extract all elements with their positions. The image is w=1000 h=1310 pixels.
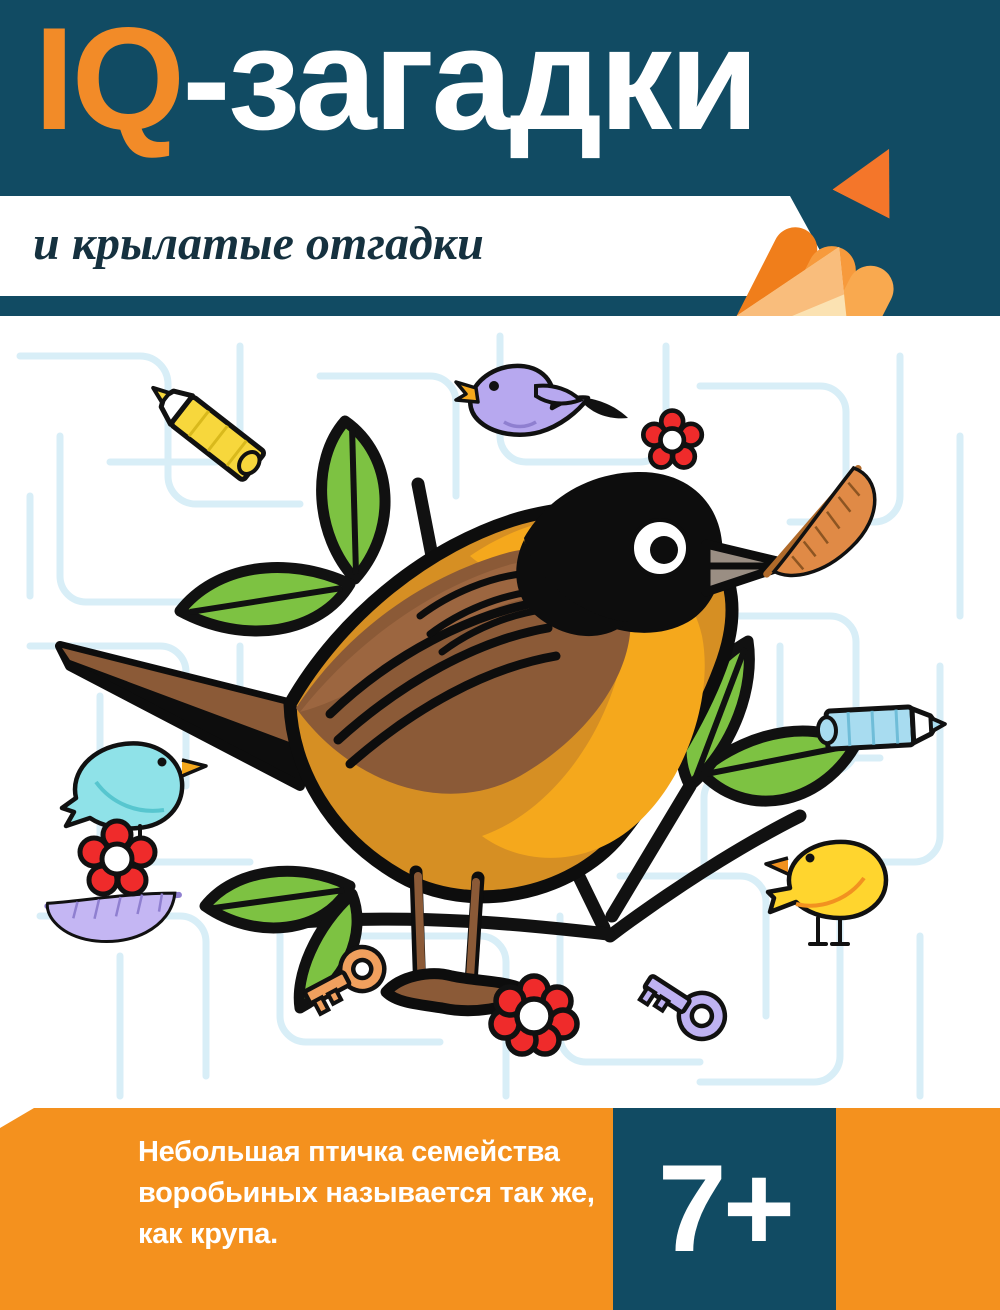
- book-cover: IQ-загадки и крылатые отгадки: [0, 0, 1000, 1310]
- purple-bird-icon: [456, 366, 628, 435]
- red-flower-icon: [643, 411, 702, 468]
- age-badge-label: 7+: [613, 1108, 836, 1310]
- title-rest: -загадки: [182, 0, 756, 160]
- subtitle: и крылатые отгадки: [33, 213, 484, 275]
- blue-pencil-icon: [817, 705, 946, 750]
- red-flower-icon: [80, 821, 155, 894]
- bird-scene-illustration: [0, 316, 1000, 1116]
- yellow-pencil-icon: [142, 374, 267, 483]
- illustration-area: [0, 316, 1000, 1116]
- red-flower-icon: [491, 976, 577, 1054]
- purple-key-icon: [636, 962, 734, 1048]
- page-title: IQ-загадки: [34, 4, 756, 154]
- title-accent: IQ: [34, 0, 182, 160]
- riddle-text: Небольшая птичка семейства воробьиных на…: [138, 1132, 608, 1255]
- yellow-bird-icon: [766, 842, 886, 944]
